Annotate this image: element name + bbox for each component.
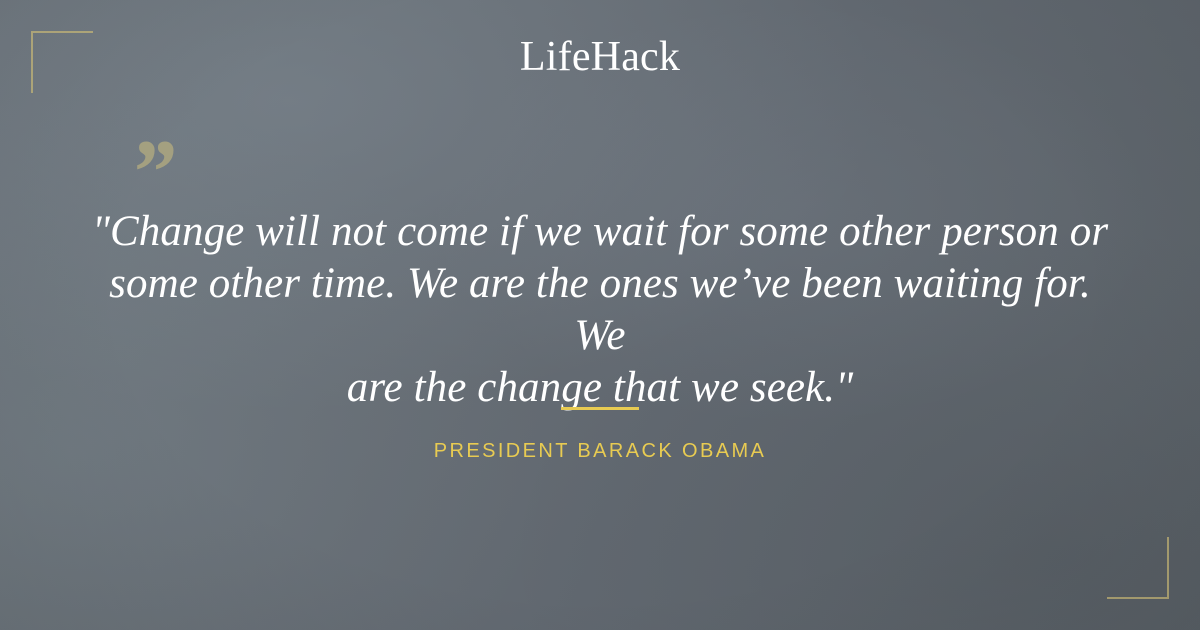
divider-wrap bbox=[0, 407, 1200, 410]
quote-line: "Change will not come if we wait for som… bbox=[84, 206, 1116, 258]
quote-attribution: PRESIDENT BARACK OBAMA bbox=[0, 438, 1200, 464]
quote-line: some other time. We are the ones we’ve b… bbox=[84, 258, 1116, 362]
lifehack-logo: LifeHack bbox=[0, 36, 1200, 78]
quote-card: LifeHack ” "Change will not come if we w… bbox=[0, 0, 1200, 630]
quote-block: "Change will not come if we wait for som… bbox=[84, 206, 1116, 414]
gold-divider bbox=[561, 407, 639, 410]
quotation-mark-icon: ” bbox=[129, 126, 175, 218]
